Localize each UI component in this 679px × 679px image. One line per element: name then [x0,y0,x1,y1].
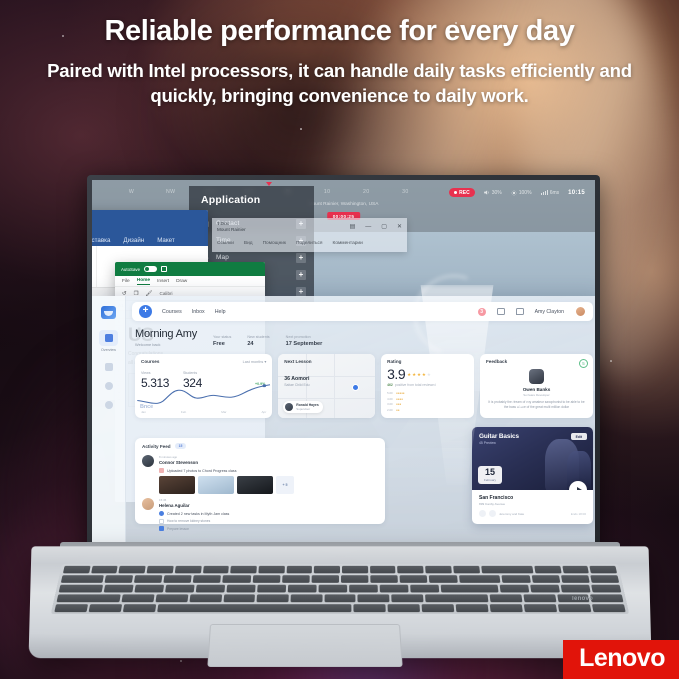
greeting-subtitle: Welcome back [135,342,197,347]
star-icon: ★ [417,372,421,378]
activity-item[interactable]: 15:45 Helena Aguilar Created 2 new tasks… [142,498,378,531]
period-select[interactable]: Last months ▾ [243,359,267,364]
navbar-right: 3 Amy Clayton [478,306,586,317]
axis-tick: Apr [261,410,266,414]
dashboard-main: + Courses Inbox Help 3 Amy Clayton [126,296,595,563]
add-button[interactable]: + [296,270,306,280]
activity-task[interactable]: Prepare lesson [159,526,378,531]
card-title: Feedback [486,359,587,364]
word-ribbon-tabs: Файл Главная Вставка Дизайн Макет [92,230,208,246]
feedback-badge: 5 [579,359,588,368]
ribbon-helper[interactable]: Помощник [263,241,286,246]
autosave-toggle[interactable] [144,266,157,272]
axis-tick: Feb [181,410,186,414]
card-title: Next Lesson [284,359,369,364]
rating-count: 462 [387,383,393,387]
tab-insert[interactable]: Insert [157,279,169,284]
edit-button[interactable]: Edit [571,433,587,440]
add-new-button[interactable]: + [139,305,152,318]
guitar-card-sub: 45 Preview [479,441,496,445]
sparkle [300,128,302,130]
word2-doc-info: 1.Doc Mount Rainier [217,221,246,232]
word2-ribbon: Ссылки Вид Помощник Поделиться Комментар… [212,235,407,252]
axis-tick: Mar [221,410,226,414]
breakdown-label: 3.00 [387,402,394,406]
record-badge: REC [449,188,475,197]
activity-thumbnails: + 5 [159,476,378,494]
laptop-keyboard [51,564,630,614]
promo-headline-block: Reliable performance for every day Paire… [0,14,679,109]
brightness-indicator: 100% [511,190,532,196]
guitar-card-footer: Jeremmy and Kate Ends 18:00 [479,510,586,517]
feedback-author-name: Owen Banks [486,387,587,392]
application-panel-title: Application [201,194,314,206]
metric-key: Views [141,371,169,375]
stat-value: 17 September [286,341,323,347]
dashboard-navbar: + Courses Inbox Help 3 Amy Clayton [132,302,593,321]
keyboard-row [53,594,626,602]
avatar [142,455,154,467]
checkbox-icon[interactable] [159,519,164,524]
geo-location-label: Mount Rainier, Washington, USA [92,202,595,207]
volume-value: 30% [492,190,502,196]
headline-title: Reliable performance for every day [26,14,653,48]
record-label: REC [459,190,470,196]
volume-indicator: 30% [484,190,502,196]
activity-body: 15:45 Helena Aguilar Created 2 new tasks… [159,498,378,531]
laptop-screen-bezel: W NW 330 340 N 10 20 30 Mount Rainier, W… [87,175,600,575]
rating-stars: ★★ ★★ ★ [407,372,431,378]
signal-bars-icon [541,190,548,195]
upload-icon [159,468,164,473]
card-courses[interactable]: Courses Last months ▾ Views 5.313 [135,354,272,418]
brightness-icon [511,190,517,196]
activity-feed-header: Activity Feed 15 [142,443,378,449]
word2-titlebar: 1.Doc Mount Rainier ▤ — ▢ ✕ [212,218,407,235]
activity-feed-title: Activity Feed [142,444,171,449]
minimize-icon[interactable]: — [365,224,371,230]
activity-item[interactable]: 8 minutes ago Connor Stevenson Uploaded … [142,455,378,494]
education-dashboard: Overview + Courses Inbox Help 3 [92,296,595,563]
autosave-label: AutoSave [121,267,140,272]
axis-tick: Jan [141,410,146,414]
font-group: Calibri (Осн Ж К Ч [92,246,97,287]
lesson-sub: Saitae Child Edu [284,383,309,387]
excel-titlebar: AutoSave [115,262,265,276]
tab-home[interactable]: Home [137,278,150,285]
breakdown-label: 4.00 [387,397,394,401]
nav-link-inbox[interactable]: Inbox [192,309,205,315]
event-day: 15 [484,468,496,477]
activity-time: 8 minutes ago [159,455,378,459]
compass-tick: W [112,189,151,195]
lenovo-palmrest-logo: lenovo [572,596,593,602]
end-time-label: Ends 18:00 [571,512,586,516]
rating-count-sub: positive from total reviewed [395,383,436,387]
compass-tick: 20 [347,189,386,195]
activity-action: Created 2 new tasks in Myth Jam class [159,511,378,516]
sidebar-item-label: Overview [101,348,116,352]
star-icon: ★ [422,372,426,378]
keyboard-row [60,566,620,573]
signal-value: 6ms [550,190,559,196]
guitar-card-title: Guitar Basics [479,433,519,440]
activity-task[interactable]: How to remove kidney stones [159,519,378,524]
teacher-avatar [285,403,293,411]
globe-icon[interactable] [479,510,486,517]
clock-label: 10:15 [568,190,585,196]
task-label: How to remove kidney stones [167,519,210,523]
record-dot-icon [454,191,457,194]
maximize-icon[interactable]: ▢ [381,223,387,230]
feedback-quote: It is probably the dream of any amateur … [486,400,587,410]
activity-action-text: Created 2 new tasks in Myth Jam class [167,512,229,516]
event-location: San Francisco [479,495,586,501]
breakdown-row: 4.00 ●●●● [387,397,468,401]
ribbon-share[interactable]: Поделиться [296,241,323,246]
breakdown-dots: ●●●● [396,397,403,401]
add-button[interactable]: + [296,287,306,297]
notification-badge[interactable]: 3 [478,308,486,316]
volume-icon [484,190,490,195]
star-icon: ★ [412,372,416,378]
compass-tick: NW [151,189,190,195]
keyboard-row [58,575,622,583]
word2-doc-sub: Mount Rainier [217,227,246,233]
stat-key: Next promotion [286,335,323,339]
tab-draw[interactable]: Draw [176,279,187,284]
feedback-author-role: Software Developer [486,393,587,397]
keyboard-row [51,604,629,612]
event-month: February [484,478,496,482]
nav-link-help[interactable]: Help [215,309,226,315]
activity-author: Connor Stevenson [159,460,378,465]
more-photos-button[interactable]: + 5 [276,476,294,494]
window-controls: ▤ — ▢ ✕ [350,223,402,230]
lesson-teacher[interactable]: Ronald Hayes Supervisor [283,401,322,413]
card-next-lesson[interactable]: Next Lesson 36 Aomori Saitae Child Edu R… [278,354,375,418]
keyboard-row [56,585,625,593]
teacher-info: Ronald Hayes Supervisor [296,403,318,411]
star-icon: ★ [407,372,411,378]
teacher-role: Supervisor [296,407,318,411]
rating-breakdown: 5.00 ●●●●● 4.00 ●●●● 3.00 ●●● [387,391,468,412]
word-titlebar: 🖫 ↺ ↻ 🖉 ▾ [92,210,208,230]
greeting-title: Morning Amy [135,328,197,340]
activity-feed-panel: Activity Feed 15 8 minutes ago Connor St… [135,438,385,524]
stat-key: New students [247,335,269,339]
rating-count-line: 462positive from total reviewed [387,383,468,387]
excel-app-icon [161,266,167,272]
signal-indicator: 6ms [541,190,560,196]
people-icon[interactable] [489,510,496,517]
avatar [142,498,154,510]
attendees-label: Jeremmy and Kate [499,512,524,516]
app-item-label: Map [216,254,296,261]
laptop-product-image: W NW 330 340 N 10 20 30 Mount Rainier, W… [0,150,679,670]
courses-line-chart [135,382,272,406]
activity-body: 8 minutes ago Connor Stevenson Uploaded … [159,455,378,494]
nav-link-courses[interactable]: Courses [162,309,182,315]
laptop-touchpad [207,624,402,667]
ribbon-view[interactable]: Вид [244,241,253,246]
period-label: Last months [243,360,264,364]
breakdown-row: 5.00 ●●●●● [387,391,468,395]
tab-layout[interactable]: Макет [151,234,181,246]
thumbnail[interactable] [198,476,234,494]
feedback-author-avatar [529,369,544,384]
thumbnail[interactable] [159,476,195,494]
stat-value: 24 [247,341,269,347]
tab-insert[interactable]: Вставка [92,234,116,246]
folder-icon[interactable] [105,363,113,371]
ribbon-comments[interactable]: Комментарии [333,241,363,246]
add-button[interactable]: + [296,253,306,263]
dashboard-sidebar: Overview [92,296,126,563]
close-icon[interactable]: ✕ [397,223,402,230]
chart-axis-labels: Jan Feb Mar Apr [141,410,266,414]
lenovo-logo-badge: Lenovo [563,640,679,679]
card-feedback[interactable]: Feedback 5 Owen Banks Software Developer… [480,354,593,418]
compass-tick: 30 [386,189,425,195]
activity-action: Uploaded 7 photos to Chord Progress clas… [159,468,378,473]
breakdown-dots: ●● [396,408,399,412]
task-icon [159,511,164,516]
tab-file[interactable]: File [122,279,130,284]
activity-action-text: Uploaded 7 photos to Chord Progress clas… [167,469,237,473]
dashboard-stat-cards: Courses Last months ▾ Views 5.313 [135,354,593,418]
app-logo-icon[interactable] [101,306,116,319]
laptop-screen: W NW 330 340 N 10 20 30 Mount Rainier, W… [92,180,595,563]
play-icon [577,487,582,490]
chat-icon[interactable] [516,308,524,315]
task-label: Prepare lesson [167,527,189,531]
ribbon-references[interactable]: Ссылки [217,241,234,246]
star-icon-empty: ★ [427,372,431,378]
word-window-secondary[interactable]: 1.Doc Mount Rainier ▤ — ▢ ✕ Ссылки Вид П… [212,218,407,252]
card-guitar-basics[interactable]: Guitar Basics 45 Preview Edit 15 Februar… [472,427,593,524]
breakdown-dots: ●●●●● [396,391,404,395]
brightness-value: 100% [519,190,532,196]
activity-time: 15:45 [159,498,378,502]
header-stat-students: New students 24 [247,335,269,347]
activity-author: Helena Aguilar [159,503,378,508]
grid-icon [99,330,118,346]
thumbnail[interactable] [237,476,273,494]
guitar-hero-image: Guitar Basics 45 Preview Edit 15 Februar… [472,427,593,490]
header-stat-promotion: Next promotion 17 September [286,335,323,347]
breakdown-label: 5.00 [387,391,394,395]
header-stat-status: Your status Free [213,335,231,347]
heart-icon[interactable] [105,382,113,390]
dashboard-header: Morning Amy Welcome back Your status Fre… [135,328,595,347]
user-name-label[interactable]: Amy Clayton [535,309,564,315]
lesson-name: 36 Aomori [284,376,309,382]
sidebar-item-overview[interactable]: Overview [99,330,118,352]
calendar-icon[interactable] [497,308,505,315]
stat-value: Free [213,341,231,347]
greeting-block: Morning Amy Welcome back [135,328,197,347]
drone-status-icons: REC 30% 100% 6ms 10:15 [449,188,585,197]
excel-tabs: File Home Insert Draw [115,276,265,287]
restore-icon[interactable]: ▤ [350,223,356,230]
headline-subtitle: Paired with Intel processors, it can han… [26,59,653,108]
activity-feed-count: 15 [175,443,187,449]
card-rating[interactable]: Rating 3.9 ★★ ★★ ★ 462positive from tota… [381,354,474,418]
metric-key: Students [183,371,202,375]
avatar[interactable] [575,306,586,317]
bookmark-icon[interactable] [105,401,113,409]
breakdown-row: 2.00 ●● [387,408,468,412]
breakdown-dots: ●●● [396,402,401,406]
event-date-badge: 15 February [478,466,502,484]
event-address: 899 Canby Avenue [479,502,586,506]
stat-key: Your status [213,335,231,339]
breakdown-label: 2.00 [387,408,394,412]
checkbox-icon-checked[interactable] [159,526,164,531]
breakdown-row: 3.00 ●●● [387,402,468,406]
power-icon[interactable] [512,390,529,407]
card-title: Rating [387,359,468,364]
tab-design[interactable]: Дизайн [117,234,150,246]
guitar-card-body: San Francisco 899 Canby Avenue Jeremmy a… [472,490,593,522]
